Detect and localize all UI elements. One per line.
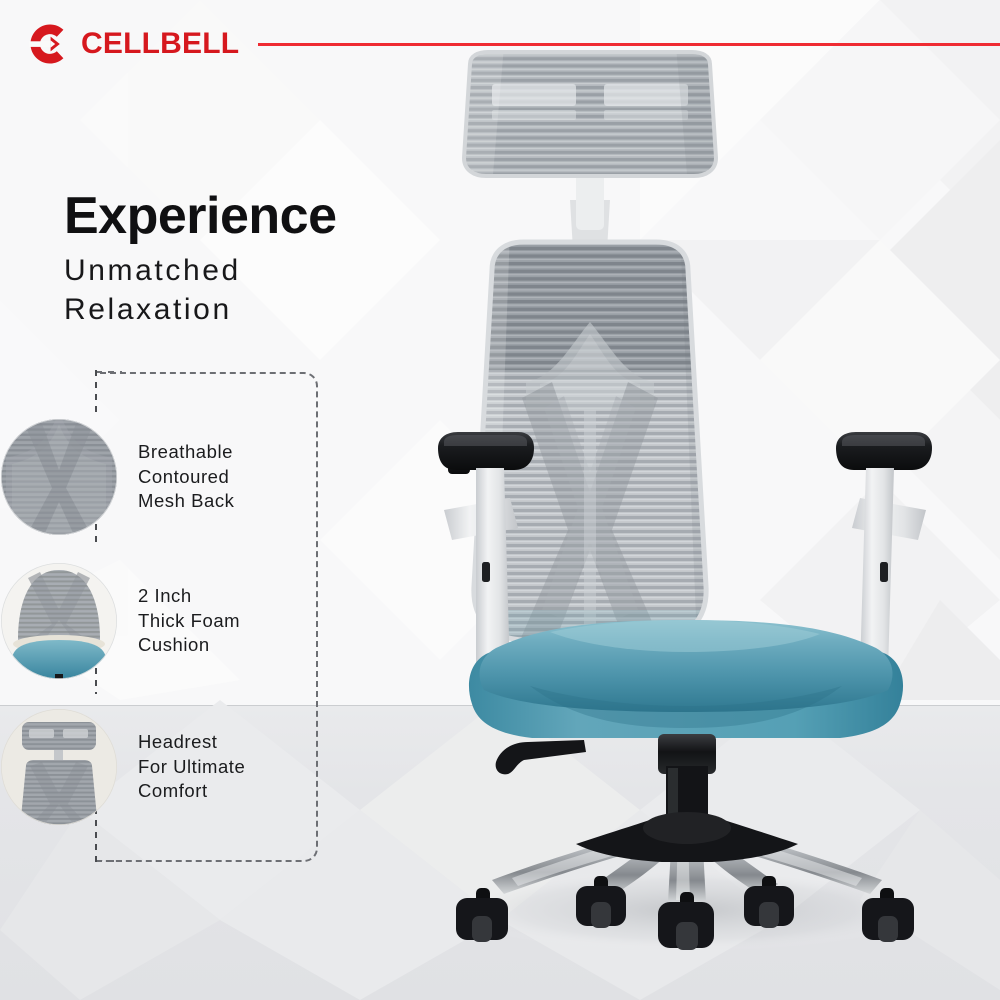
feature-item-headrest[interactable]: Headrest For Ultimate Comfort — [0, 708, 340, 826]
feature-item-mesh-back[interactable]: Breathable Contoured Mesh Back — [0, 418, 340, 536]
headline-secondary-line1: Unmatched — [64, 252, 337, 290]
office-chair-product-image — [400, 50, 970, 950]
feature-label-mesh-back: Breathable Contoured Mesh Back — [138, 440, 234, 513]
brand-name: CELLBELL — [81, 29, 239, 59]
brand-header: CELLBELL — [0, 0, 1000, 88]
mesh-back-thumbnail-icon — [0, 418, 118, 536]
chair-tilt-lever — [496, 740, 586, 774]
feature-connector-top — [95, 370, 97, 418]
headline-secondary: Unmatched Relaxation — [64, 252, 337, 329]
brand-logo-lockup[interactable]: CELLBELL — [28, 22, 239, 66]
headline-block: Experience Unmatched Relaxation — [64, 188, 337, 329]
cellbell-c-mark-icon — [28, 22, 72, 66]
feature-item-foam-cushion[interactable]: 2 Inch Thick Foam Cushion — [0, 562, 340, 680]
headrest-thumbnail-icon — [0, 708, 118, 826]
header-accent-rule — [258, 43, 1000, 46]
feature-callout-panel: Breathable Contoured Mesh Back — [0, 360, 340, 880]
headline-primary: Experience — [64, 188, 337, 244]
chair-seat-cushion — [469, 620, 903, 738]
foam-cushion-thumbnail-icon — [0, 562, 118, 680]
bracket-top-stub — [96, 371, 122, 373]
feature-label-headrest: Headrest For Ultimate Comfort — [138, 730, 245, 803]
bracket-bottom-stub — [96, 860, 122, 862]
feature-label-foam-cushion: 2 Inch Thick Foam Cushion — [138, 584, 240, 657]
headline-secondary-line2: Relaxation — [64, 291, 337, 329]
